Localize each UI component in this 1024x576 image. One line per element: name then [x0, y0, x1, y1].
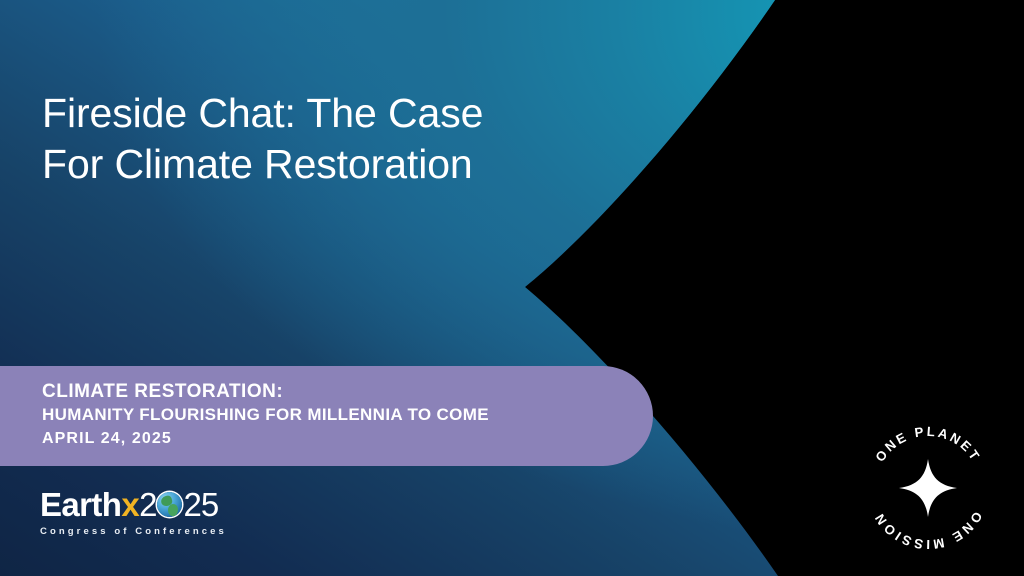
globe-icon	[157, 492, 182, 517]
earthx-logo: Earthx2 25 Congress of Conferences	[40, 488, 227, 537]
banner-subheading: Humanity Flourishing for Millennia to Co…	[42, 404, 653, 426]
badge-top-text: ONE PLANET	[872, 424, 983, 465]
logo-text-twofive: 25	[183, 488, 218, 521]
session-banner: Climate Restoration: Humanity Flourishin…	[0, 366, 653, 466]
earthx-wordmark: Earthx2 25	[40, 488, 227, 521]
four-point-star-icon	[899, 459, 957, 517]
banner-date: April 24, 2025	[42, 428, 653, 449]
logo-tagline: Congress of Conferences	[40, 526, 227, 537]
page-title: Fireside Chat: The Case For Climate Rest…	[42, 88, 682, 190]
logo-text-earth: Earth	[40, 488, 121, 521]
one-planet-one-mission-badge: ONE PLANET ONE MISSION	[856, 416, 1000, 560]
presentation-slide: Fireside Chat: The Case For Climate Rest…	[0, 0, 1024, 576]
logo-text-x: x	[121, 488, 139, 521]
banner-heading: Climate Restoration:	[42, 379, 653, 404]
logo-text-two: 2	[139, 488, 156, 521]
